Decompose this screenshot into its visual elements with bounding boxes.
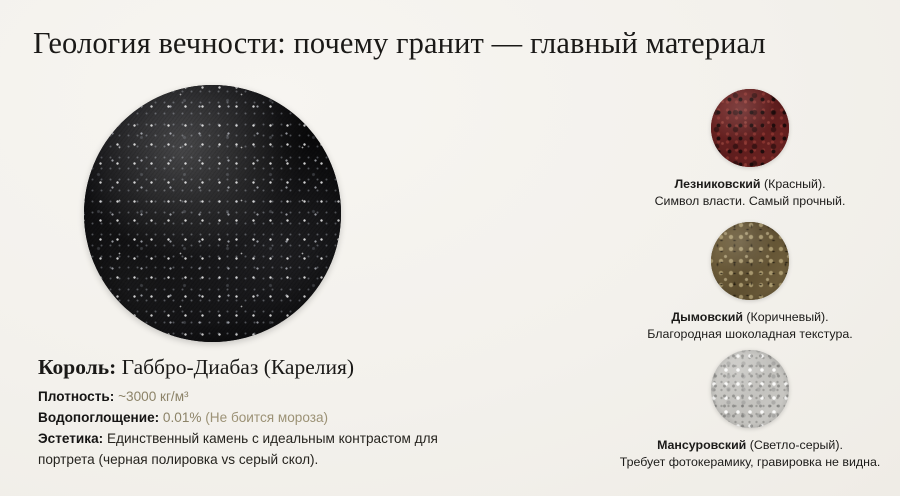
- king-label: Король:: [38, 355, 116, 379]
- spec-row-water-absorption: Водопоглощение: 0.01% (Не боится мороза): [38, 407, 468, 428]
- stone-caption-leznikovsky: Лезниковский (Красный). Символ власти. С…: [600, 176, 900, 209]
- stone-sheen-layer: [84, 85, 341, 342]
- stone-card-dymovsky: Дымовский (Коричневый). Благородная шоко…: [600, 222, 900, 342]
- stone-desc-dymovsky: Благородная шоколадная текстура.: [600, 326, 900, 343]
- spec-key-water-absorption: Водопоглощение:: [38, 410, 159, 425]
- mansurovsky-stone-swatch: [711, 350, 789, 428]
- spec-note-water-absorption: (Не боится мороза): [201, 410, 328, 425]
- spec-key-aesthetics: Эстетика:: [38, 431, 103, 446]
- stone-caption-dymovsky: Дымовский (Коричневый). Благородная шоко…: [600, 309, 900, 342]
- stone-tint-dymovsky: (Коричневый).: [743, 310, 829, 324]
- spec-list: Плотность: ~3000 кг/м³ Водопоглощение: 0…: [38, 386, 468, 470]
- slide-root: Геология вечности: почему гранит — главн…: [0, 0, 900, 496]
- stone-tint-leznikovsky: (Красный).: [761, 177, 826, 191]
- spec-key-density: Плотность:: [38, 389, 114, 404]
- spec-value-water-absorption: 0.01%: [159, 410, 201, 425]
- stone-name-mansurovsky: Мансуровский: [657, 438, 746, 452]
- stone-vignette-layer: [711, 89, 789, 167]
- stone-name-dymovsky: Дымовский: [671, 310, 743, 324]
- stone-card-leznikovsky: Лезниковский (Красный). Символ власти. С…: [600, 89, 900, 209]
- stone-vignette-layer: [711, 350, 789, 428]
- gabbro-diabase-stone-swatch: [84, 85, 341, 342]
- page-title: Геология вечности: почему гранит — главн…: [33, 26, 873, 61]
- leznikovsky-stone-swatch: [711, 89, 789, 167]
- stone-vignette-layer: [711, 222, 789, 300]
- king-value: Габбро-Диабаз (Карелия): [116, 355, 354, 379]
- dymovsky-stone-swatch: [711, 222, 789, 300]
- spec-value-density: ~3000 кг/м³: [114, 389, 188, 404]
- spec-row-aesthetics: Эстетика: Единственный камень с идеальны…: [38, 428, 468, 470]
- stone-caption-mansurovsky: Мансуровский (Светло-серый). Требует фот…: [600, 437, 900, 470]
- spec-row-density: Плотность: ~3000 кг/м³: [38, 386, 468, 407]
- stone-tint-mansurovsky: (Светло-серый).: [746, 438, 843, 452]
- stone-card-mansurovsky: Мансуровский (Светло-серый). Требует фот…: [600, 350, 900, 470]
- king-stone-line: Король: Габбро-Диабаз (Карелия): [38, 355, 354, 380]
- stone-name-leznikovsky: Лезниковский: [674, 177, 760, 191]
- stone-desc-leznikovsky: Символ власти. Самый прочный.: [600, 193, 900, 210]
- stone-desc-mansurovsky: Требует фотокерамику, гравировка не видн…: [600, 454, 900, 471]
